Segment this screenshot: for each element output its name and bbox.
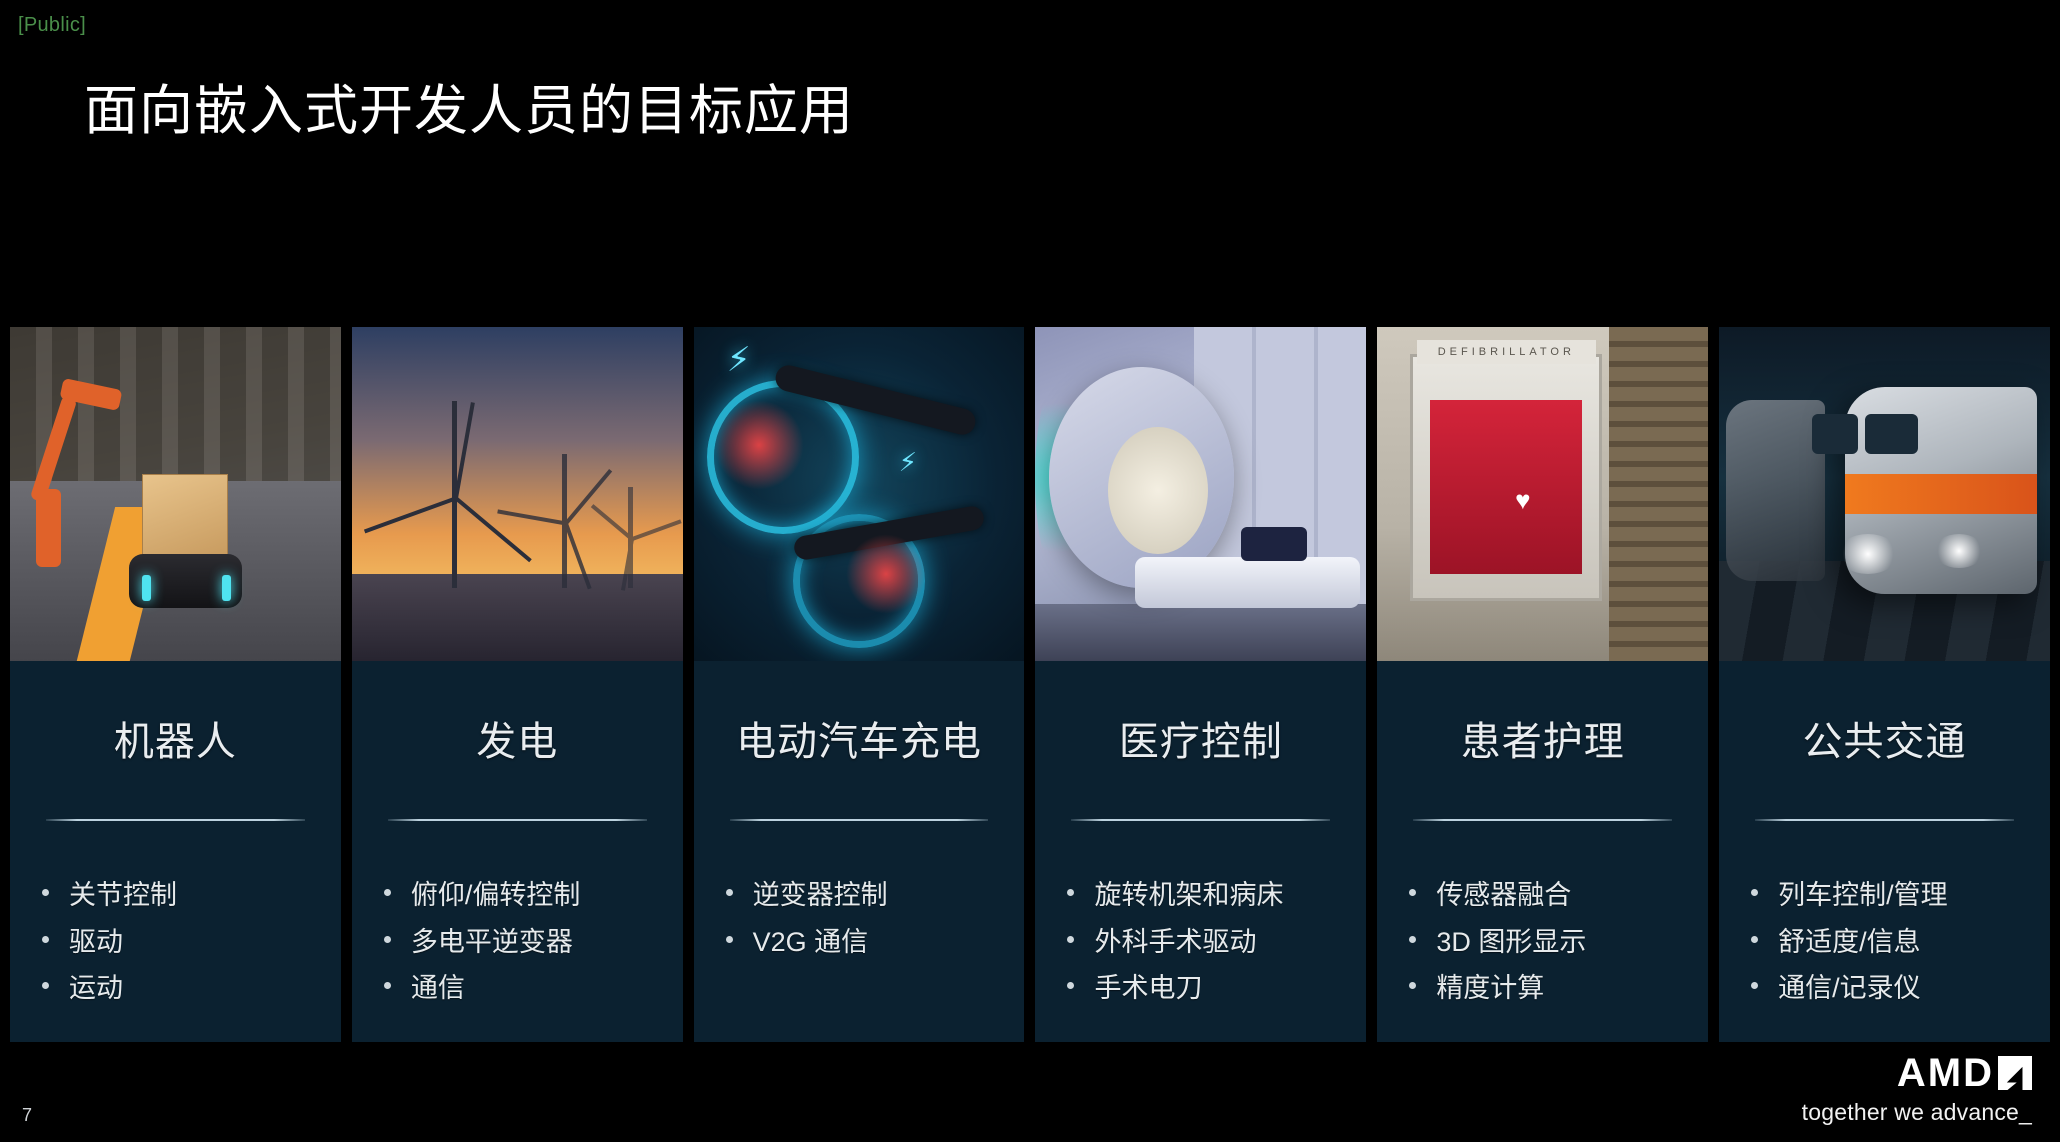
bullet-dot-icon [1067,936,1074,943]
card-bullet-list: 旋转机架和病床 外科手术驱动 手术电刀 [1057,875,1344,1009]
bullet-label: 精度计算 [1436,968,1544,1009]
right-edge-accent [2054,0,2060,1142]
list-item: 通信 [384,968,661,1009]
bullet-dot-icon [1409,982,1416,989]
bullet-dot-icon [384,889,391,896]
robotics-warehouse-photo [10,327,341,661]
card-bullet-list: 俯仰/偏转控制 多电平逆变器 通信 [374,875,661,1009]
bullet-label: 逆变器控制 [753,875,888,916]
bullet-label: 运动 [69,968,123,1009]
bullet-label: 多电平逆变器 [411,922,573,963]
bullet-dot-icon [1409,936,1416,943]
bullet-label: 通信 [411,968,465,1009]
bullet-label: 俯仰/偏转控制 [411,875,581,916]
amd-brand-text: AMD [1897,1053,1994,1093]
card-divider [1755,819,2014,821]
card-title: 公共交通 [1741,709,2028,767]
card-patient-care[interactable]: DEFIBRILLATOR ♥ 患者护理 传感器融合 3D 图形显示 精度计算 [1377,327,1708,1042]
application-cards-row: 机器人 关节控制 驱动 运动 [10,327,2050,1042]
mri-scanner-photo [1035,327,1366,661]
bullet-label: V2G 通信 [753,922,869,963]
heart-icon: ♥ [1490,474,1556,527]
bullet-dot-icon [1751,889,1758,896]
list-item: 逆变器控制 [726,875,1003,916]
card-title: 机器人 [32,709,319,767]
card-divider [730,819,989,821]
card-title: 发电 [374,709,661,767]
bullet-label: 列车控制/管理 [1778,875,1948,916]
list-item: 多电平逆变器 [384,922,661,963]
card-title: 电动汽车充电 [716,709,1003,767]
list-item: 旋转机架和病床 [1067,875,1344,916]
bullet-dot-icon [384,936,391,943]
amd-tagline: together we advance_ [1802,1101,2032,1124]
bullet-label: 3D 图形显示 [1436,922,1586,963]
list-item: 传感器融合 [1409,875,1686,916]
card-ev-charging[interactable]: ⚡ ⚡ 电动汽车充电 逆变器控制 V2G 通信 [694,327,1025,1042]
list-item: 列车控制/管理 [1751,875,2028,916]
card-body-patient-care: 患者护理 传感器融合 3D 图形显示 精度计算 [1377,661,1708,1042]
card-medical-control[interactable]: 医疗控制 旋转机架和病床 外科手术驱动 手术电刀 [1035,327,1366,1042]
card-body-power-generation: 发电 俯仰/偏转控制 多电平逆变器 通信 [352,661,683,1042]
classification-label: [Public] [18,14,86,37]
ev-charging-photo: ⚡ ⚡ [694,327,1025,661]
list-item: 俯仰/偏转控制 [384,875,661,916]
card-robotics[interactable]: 机器人 关节控制 驱动 运动 [10,327,341,1042]
list-item: 舒适度/信息 [1751,922,2028,963]
bullet-dot-icon [1751,936,1758,943]
list-item: 关节控制 [42,875,319,916]
card-title: 医疗控制 [1057,709,1344,767]
bullet-label: 传感器融合 [1436,875,1571,916]
card-divider [1413,819,1672,821]
bullet-dot-icon [42,982,49,989]
bullet-label: 旋转机架和病床 [1094,875,1283,916]
card-body-medical-control: 医疗控制 旋转机架和病床 外科手术驱动 手术电刀 [1035,661,1366,1042]
bullet-dot-icon [1751,982,1758,989]
bullet-dot-icon [1409,889,1416,896]
wind-turbines-photo [352,327,683,661]
bullet-dot-icon [1067,889,1074,896]
amd-logo: AMD together we advance_ [1802,1053,2032,1124]
passenger-train-photo [1719,327,2050,661]
list-item: 外科手术驱动 [1067,922,1344,963]
card-bullet-list: 传感器融合 3D 图形显示 精度计算 [1399,875,1686,1009]
card-divider [46,819,305,821]
card-body-ev-charging: 电动汽车充电 逆变器控制 V2G 通信 [694,661,1025,1042]
bullet-dot-icon [1067,982,1074,989]
card-bullet-list: 关节控制 驱动 运动 [32,875,319,1009]
bullet-dot-icon [726,936,733,943]
bullet-label: 舒适度/信息 [1778,922,1921,963]
card-divider [1071,819,1330,821]
amd-wordmark: AMD [1802,1053,2032,1093]
list-item: 驱动 [42,922,319,963]
list-item: 3D 图形显示 [1409,922,1686,963]
card-bullet-list: 列车控制/管理 舒适度/信息 通信/记录仪 [1741,875,2028,1009]
bullet-label: 关节控制 [69,875,177,916]
list-item: 通信/记录仪 [1751,968,2028,1009]
list-item: 手术电刀 [1067,968,1344,1009]
card-power-generation[interactable]: 发电 俯仰/偏转控制 多电平逆变器 通信 [352,327,683,1042]
list-item: 精度计算 [1409,968,1686,1009]
bullet-dot-icon [384,982,391,989]
page-number: 7 [22,1105,32,1126]
card-bullet-list: 逆变器控制 V2G 通信 [716,875,1003,962]
bullet-label: 外科手术驱动 [1094,922,1256,963]
defibrillator-label: DEFIBRILLATOR [1417,340,1596,363]
bullet-label: 手术电刀 [1094,968,1202,1009]
bullet-label: 驱动 [69,922,123,963]
bullet-dot-icon [42,889,49,896]
card-body-public-transport: 公共交通 列车控制/管理 舒适度/信息 通信/记录仪 [1719,661,2050,1042]
amd-arrow-icon [1998,1056,2032,1090]
bullet-label: 通信/记录仪 [1778,968,1921,1009]
card-public-transport[interactable]: 公共交通 列车控制/管理 舒适度/信息 通信/记录仪 [1719,327,2050,1042]
defibrillator-cabinet-photo: DEFIBRILLATOR ♥ [1377,327,1708,661]
bullet-dot-icon [726,889,733,896]
list-item: 运动 [42,968,319,1009]
bullet-dot-icon [42,936,49,943]
card-title: 患者护理 [1399,709,1686,767]
page-title: 面向嵌入式开发人员的目标应用 [84,82,854,141]
card-divider [388,819,647,821]
list-item: V2G 通信 [726,922,1003,963]
card-body-robotics: 机器人 关节控制 驱动 运动 [10,661,341,1042]
